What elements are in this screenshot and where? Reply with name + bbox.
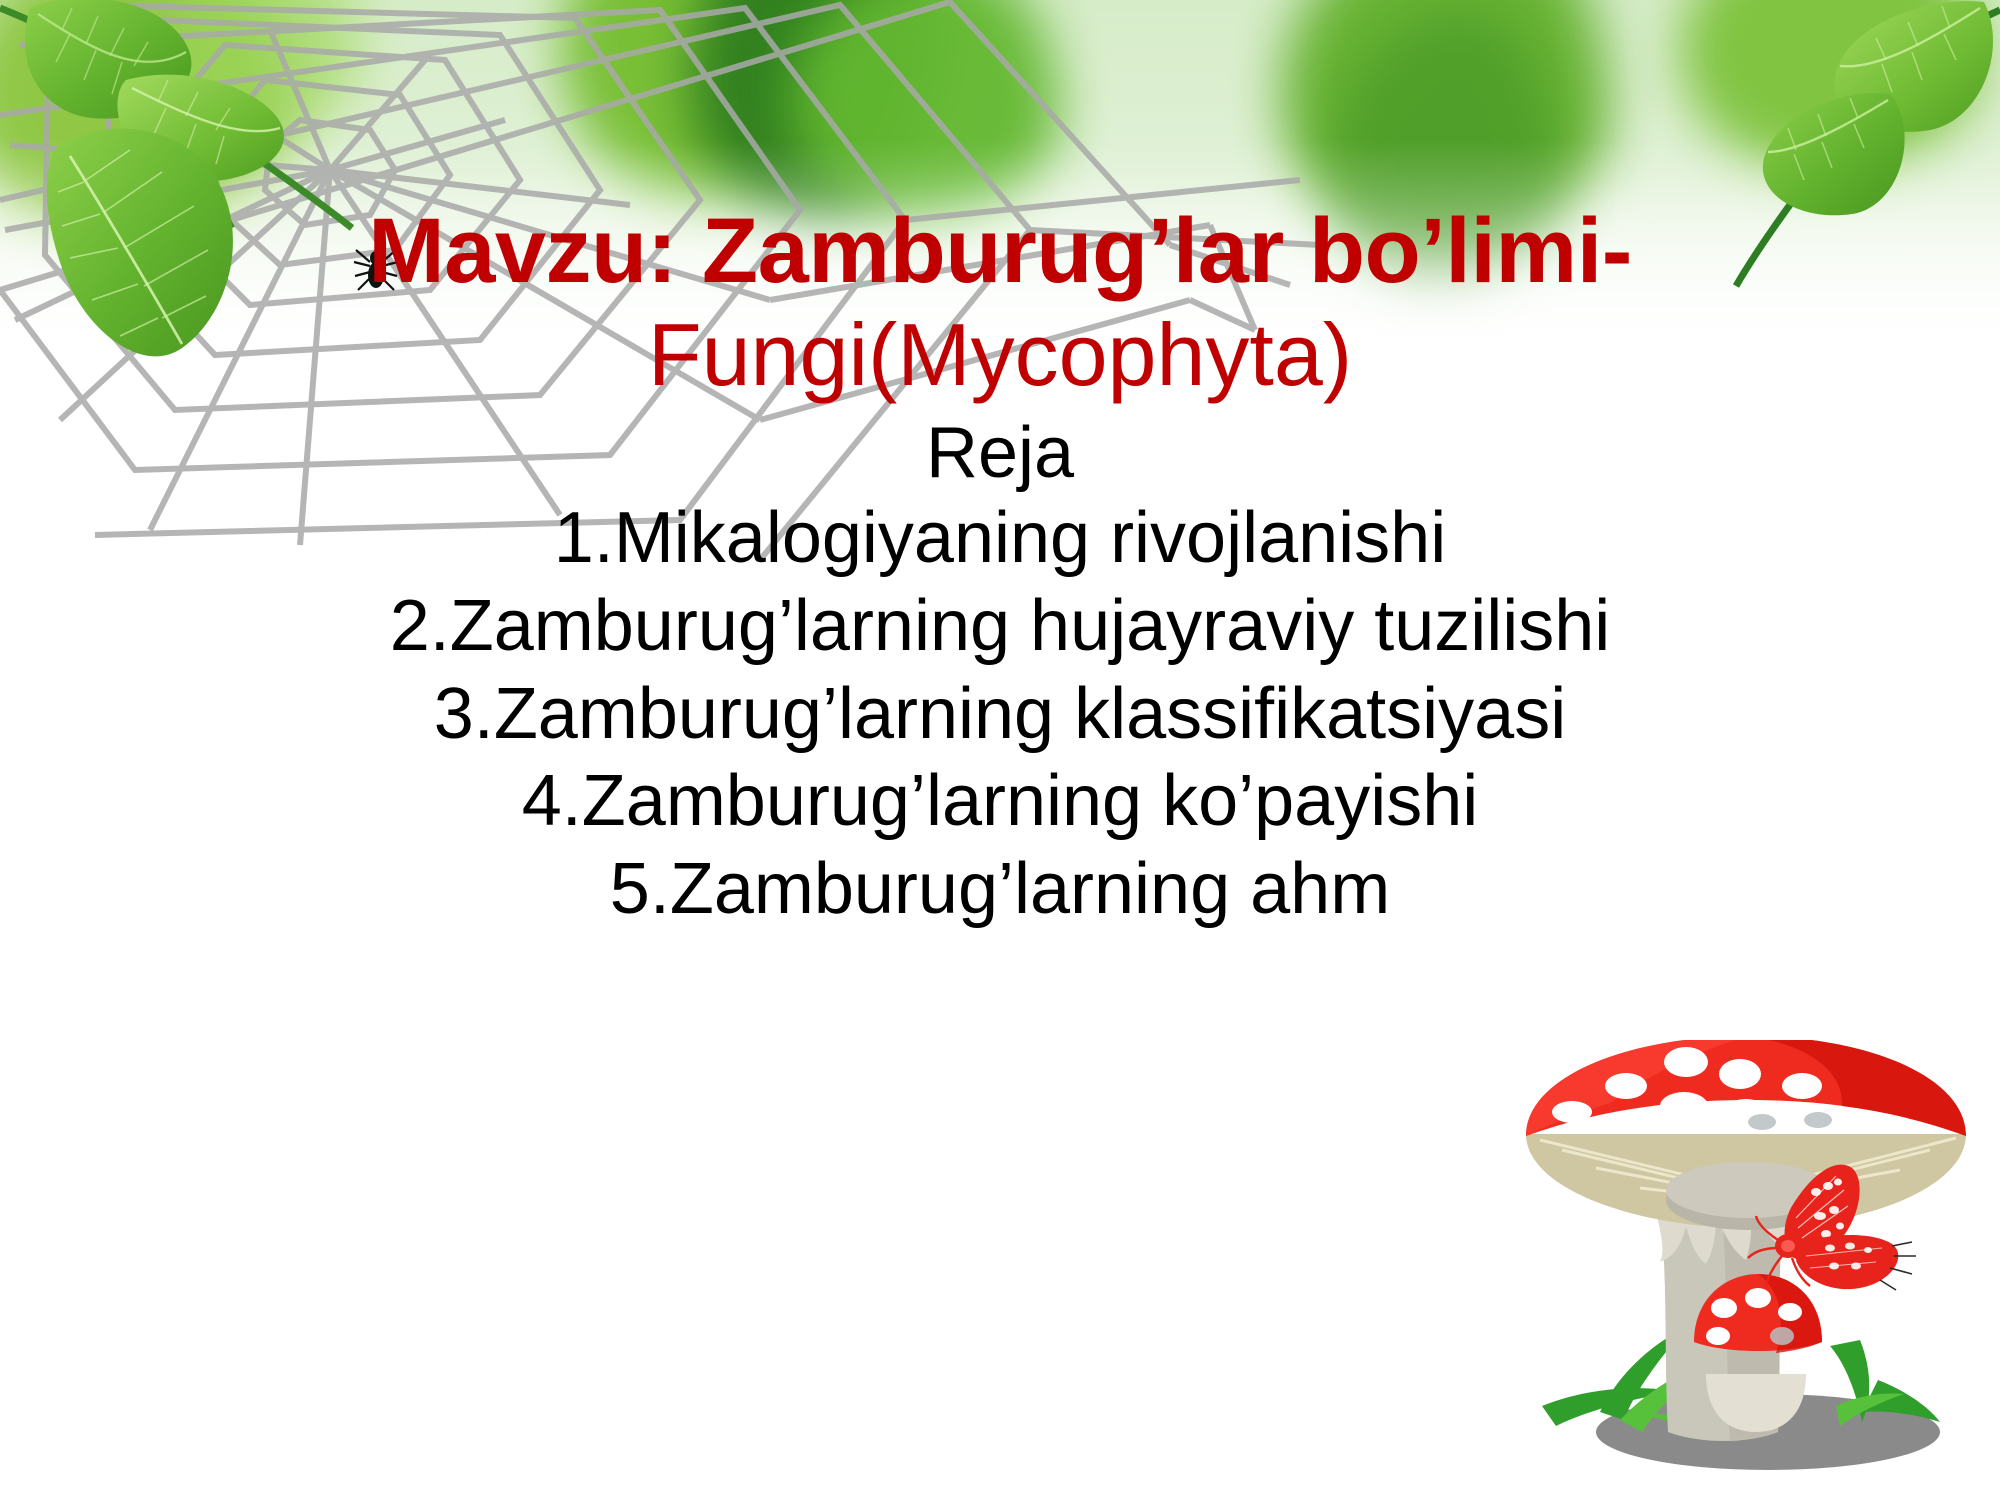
list-item: 3.Zamburug’larning klassifikatsiyasi: [0, 671, 2000, 759]
subtitle-reja: Reja: [0, 417, 2000, 489]
page-title-line-2: Fungi(Mycophyta): [0, 311, 2000, 399]
list-item: 4.Zamburug’larning ko’payishi: [0, 758, 2000, 846]
page-title-line-1: Mavzu: Zamburug’lar bo’limi-: [0, 205, 2000, 297]
list-item: 2.Zamburug’larning hujayraviy tuzilishi: [0, 583, 2000, 671]
mushroom-illustration: [1500, 1040, 2000, 1490]
slide-text-block: Mavzu: Zamburug’lar bo’limi- Fungi(Mycop…: [0, 205, 2000, 934]
outline-list: 1.Mikalogiyaning rivojlanishi 2.Zamburug…: [0, 495, 2000, 934]
presentation-slide: Mavzu: Zamburug’lar bo’limi- Fungi(Mycop…: [0, 0, 2000, 1500]
list-item: 5.Zamburug’larning ahm: [0, 846, 2000, 934]
list-item: 1.Mikalogiyaning rivojlanishi: [0, 495, 2000, 583]
leaf-icon: [1763, 93, 1905, 215]
